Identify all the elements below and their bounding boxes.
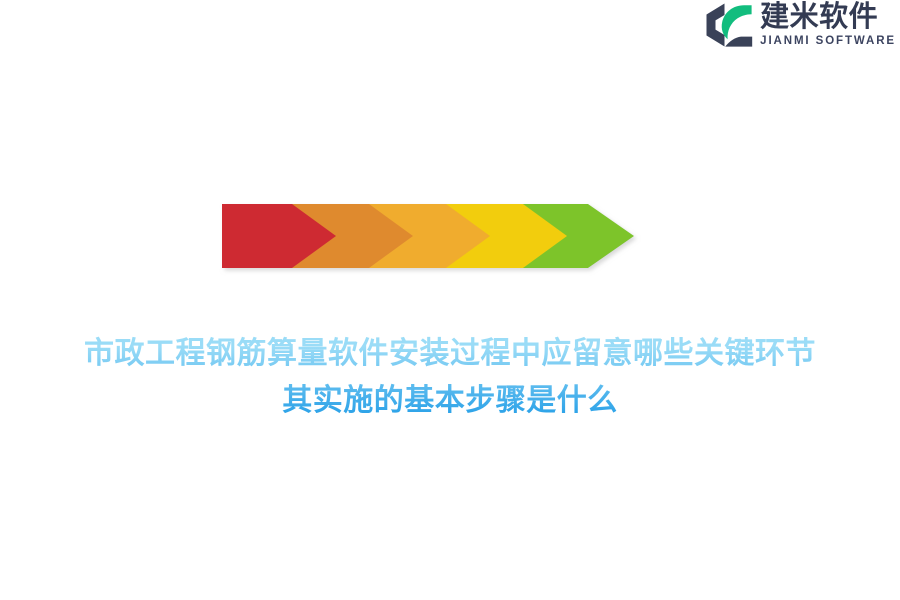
process-chevron-graphic bbox=[214, 186, 644, 286]
jianmi-leaf-hexagon-logo-icon bbox=[700, 2, 754, 48]
brand-header: 建米软件 JIANMI SOFTWARE bbox=[0, 0, 900, 56]
brand-lockup[interactable]: 建米软件 JIANMI SOFTWARE bbox=[700, 2, 900, 48]
brand-name-cn: 建米软件 bbox=[760, 2, 896, 31]
brand-text: 建米软件 JIANMI SOFTWARE bbox=[760, 2, 896, 48]
page-title-line-1: 市政工程钢筋算量软件安装过程中应留意哪些关键环节 bbox=[0, 330, 900, 377]
brand-name-en: JIANMI SOFTWARE bbox=[760, 36, 896, 48]
page-title: 市政工程钢筋算量软件安装过程中应留意哪些关键环节 其实施的基本步骤是什么 bbox=[0, 330, 900, 424]
page-title-line-2: 其实施的基本步骤是什么 bbox=[0, 377, 900, 424]
